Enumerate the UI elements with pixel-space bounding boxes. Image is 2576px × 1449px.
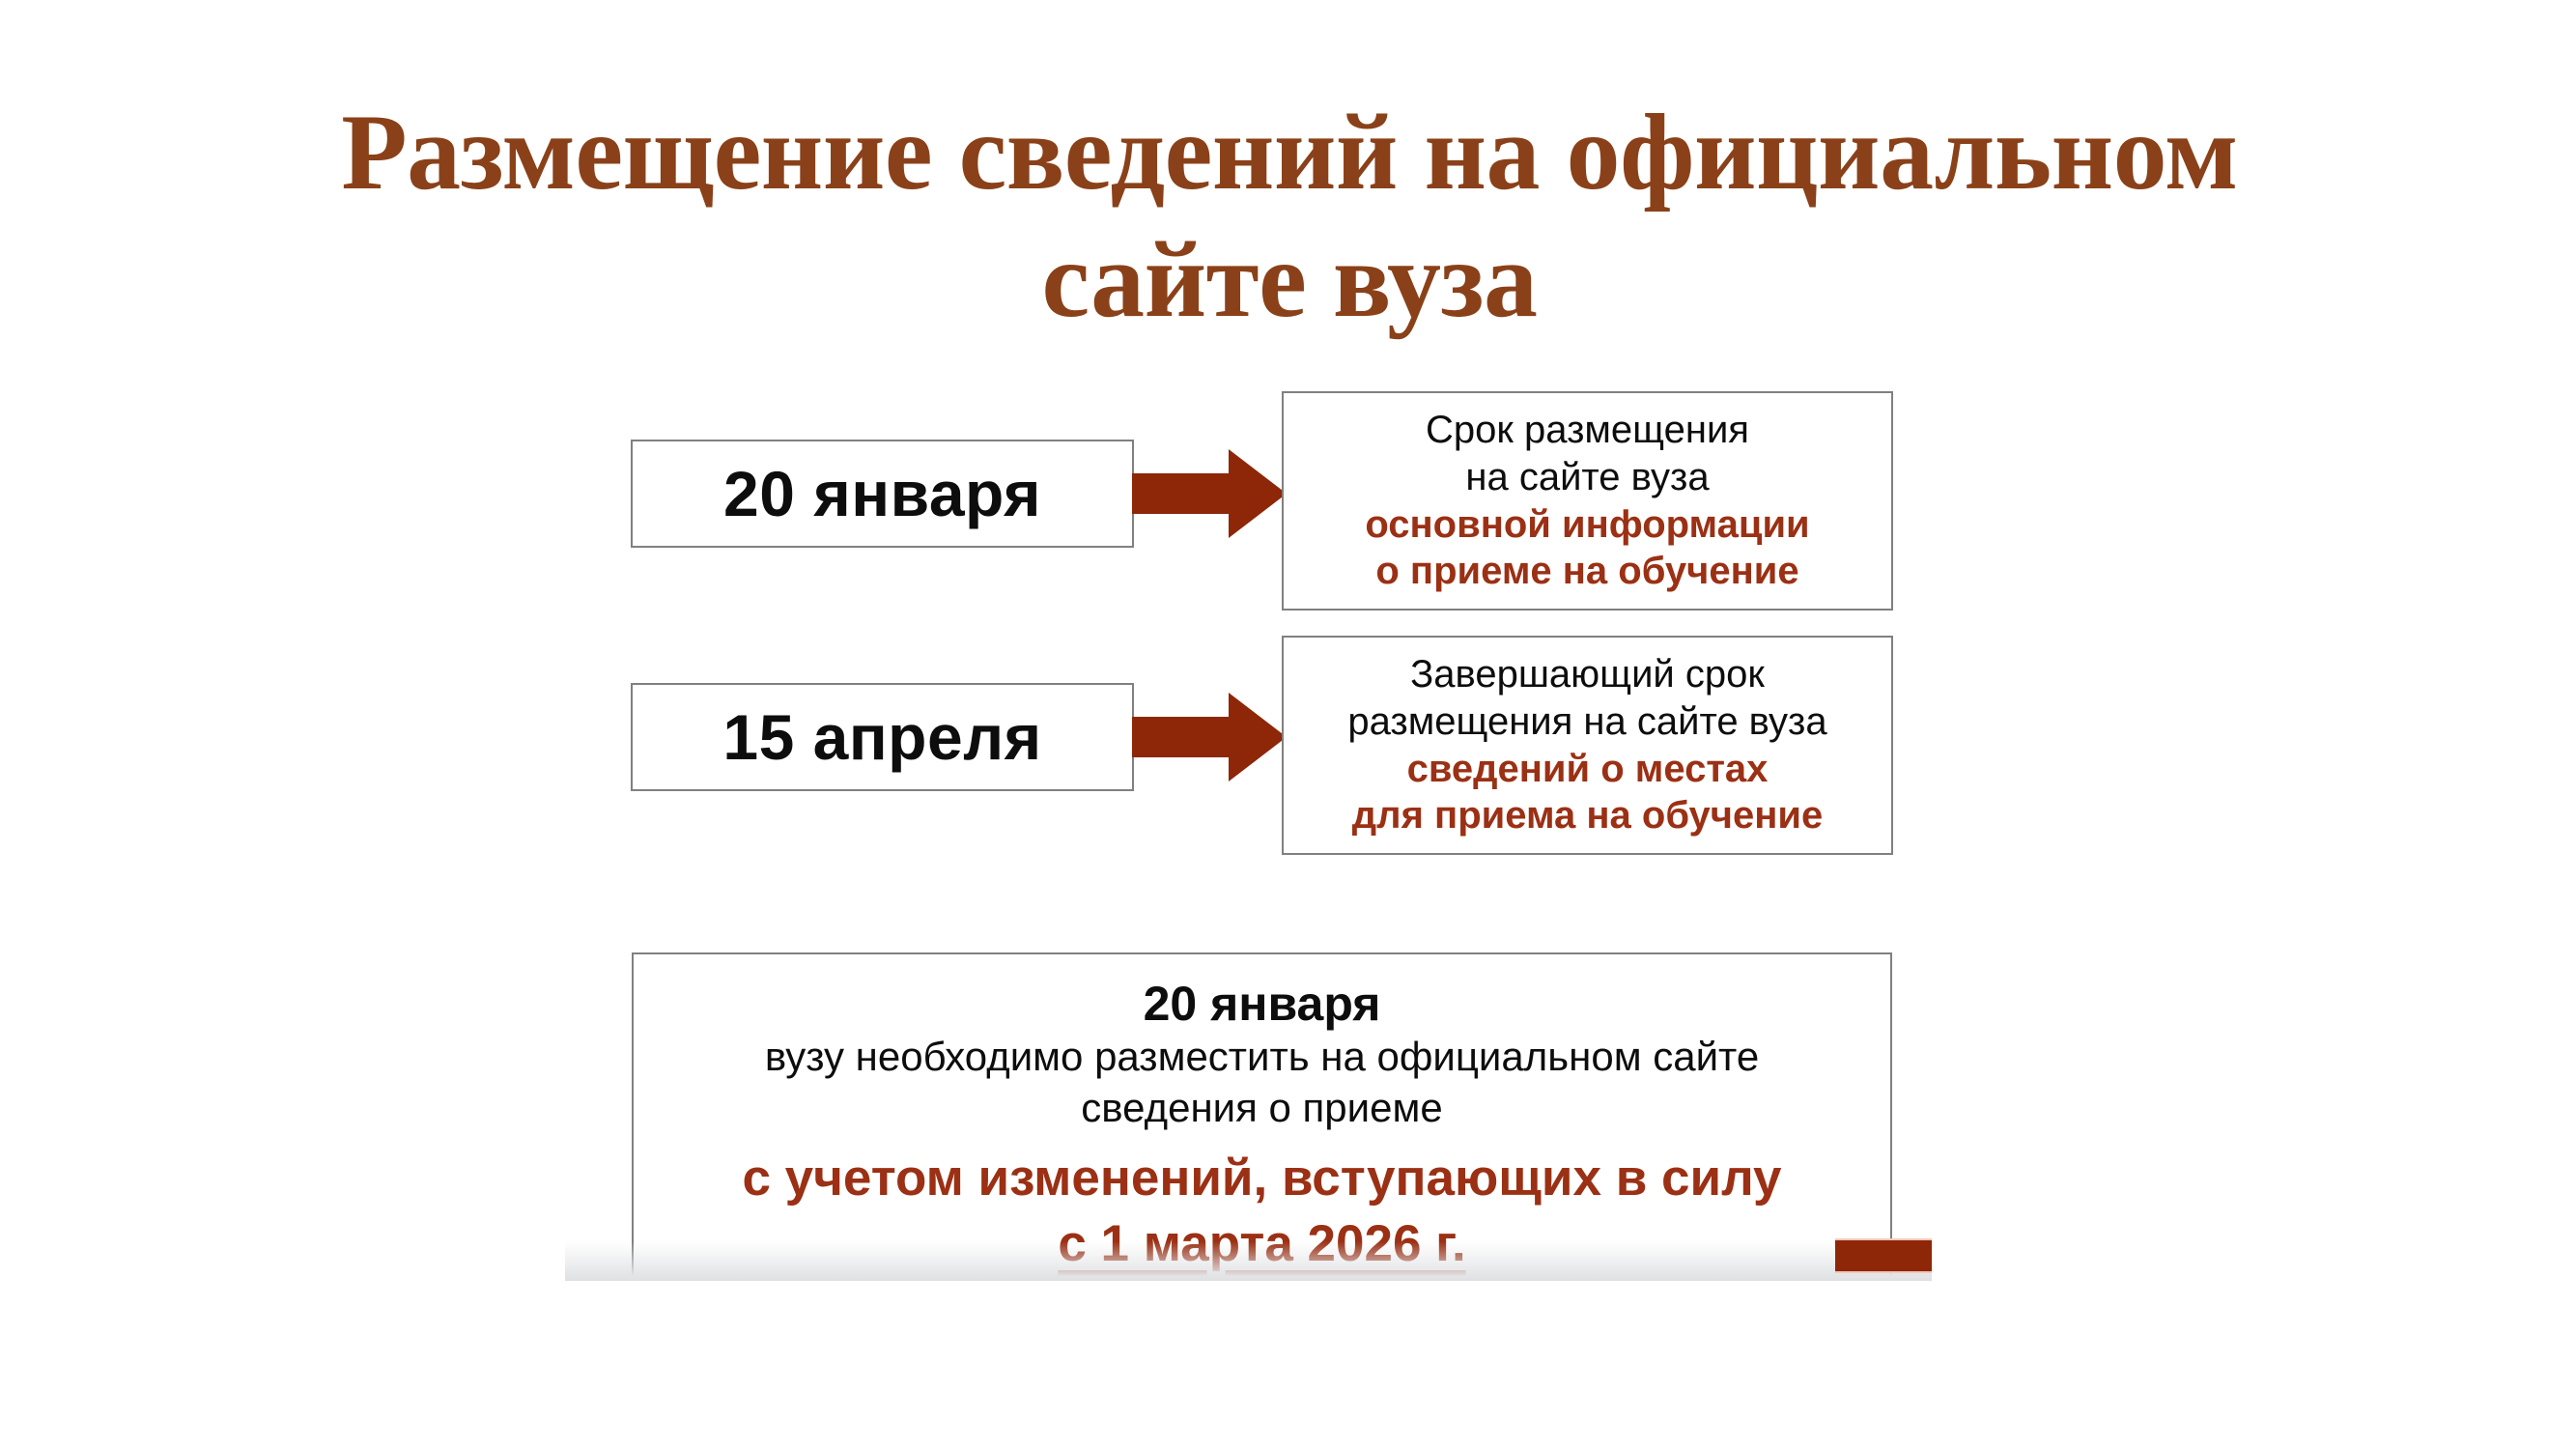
bottom-accent-line: с учетом изменений, вступающих в силу <box>742 1148 1781 1210</box>
info-line-accent: сведений о местах <box>1407 746 1769 793</box>
bottom-line: сведения о приеме <box>1081 1083 1442 1134</box>
right-arrow-icon <box>1132 685 1287 789</box>
info-line: Срок размещения <box>1426 407 1749 454</box>
info-line: размещения на сайте вуза <box>1347 698 1826 746</box>
info-line-accent: для приема на обучение <box>1352 792 1823 839</box>
date-label: 20 января <box>723 462 1041 526</box>
info-line-accent: о приеме на обучение <box>1375 548 1798 595</box>
info-line: Завершающий срок <box>1410 651 1765 698</box>
info-box-basic-admission-info: Срок размещения на сайте вуза основной и… <box>1282 391 1893 611</box>
date-label: 15 апреля <box>722 705 1041 769</box>
right-arrow-icon <box>1132 441 1287 546</box>
bottom-line: вузу необходимо разместить на официально… <box>765 1032 1759 1083</box>
info-line: на сайте вуза <box>1465 454 1709 501</box>
date-box-15-april: 15 апреля <box>631 683 1134 791</box>
page-title: Размещение сведений на официальном сайте… <box>174 89 2405 344</box>
slide-canvas: Размещение сведений на официальном сайте… <box>0 0 2576 1449</box>
date-box-20-january: 20 января <box>631 440 1134 548</box>
bottom-accent-chip <box>1835 1238 1932 1273</box>
info-line-accent: основной информации <box>1365 501 1809 549</box>
bottom-summary-box: 20 января вузу необходимо разместить на … <box>632 952 1892 1281</box>
bottom-accent-underlined-line: с 1 марта 2026 г. <box>1058 1213 1465 1276</box>
bottom-heading: 20 января <box>1144 976 1381 1032</box>
info-box-places-info: Завершающий срок размещения на сайте вуз… <box>1282 636 1893 855</box>
